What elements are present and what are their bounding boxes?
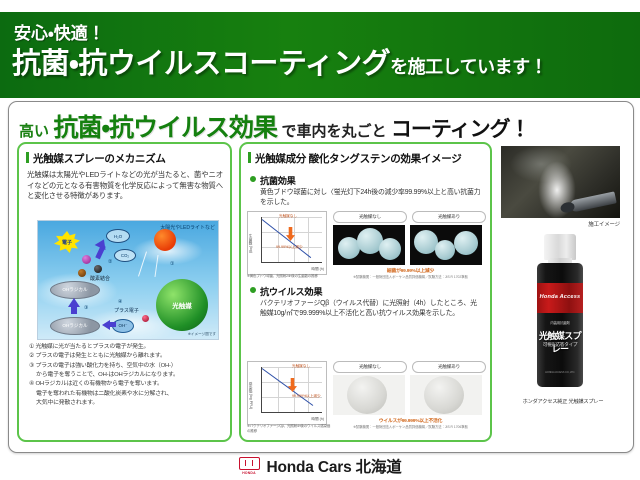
antiviral-body: バクテリオファージQβ（ウイルス代替）に光照射（4h）したところ、光触媒10g/… [260, 299, 482, 319]
headline-part-1: 高い [19, 120, 49, 141]
footer: HONDA Honda Cars 北海道 [0, 452, 640, 480]
banner-title-main: 抗菌・抗ウイルスコーティング [12, 48, 390, 80]
photo-label-with-catalyst: 光触媒あり [412, 211, 486, 223]
antibacterial-photos: 光触媒なし 光触媒あり [333, 211, 488, 275]
electron-dot [82, 255, 91, 264]
spray-nozzle-icon [569, 191, 616, 212]
effects-title: 光触媒成分 酸化タングステンの効果イメージ [248, 151, 490, 166]
headline-part-3: で車内を丸ごと [281, 120, 386, 141]
chart-series-line [262, 219, 311, 258]
panel-effects: 光触媒成分 酸化タングステンの効果イメージ 抗菌効果 黄色ブドウ球菌に対し〈蛍光… [239, 142, 492, 442]
diagram-step-2-marker: ② [108, 259, 112, 265]
headline: 高い 抗菌・抗ウイルス効果 で車内を丸ごと コーティング！ [9, 108, 633, 138]
bottle-cap [544, 234, 576, 260]
antibacterial-photo-fineprint: ※試験機関：一般財団法人ボーケン品質評価機構／試験方法：JIS R 1702準拠 [333, 275, 488, 279]
bottle-brand: Honda Access [537, 294, 583, 300]
diagram-step-3-marker: ③ [84, 305, 88, 311]
chart-gridline [308, 367, 309, 412]
antiviral-chart-caption: ※バクテリオファージQβ、光照射4h後のウイルス感染価の推移 [247, 424, 333, 434]
oh-radical-cloud-top: OHラジカル [50, 281, 100, 299]
mechanism-title: 光触媒スプレーのメカニズム [26, 151, 230, 166]
mechanism-step: 大気中に発散されます。 [29, 399, 222, 408]
photocatalysis-diagram: 太陽光やLEDライトなど ① 電子 H₂O CO₂ 酸素結合 ② [37, 220, 219, 340]
banner-title-suffix: を施工しています！ [390, 57, 547, 77]
mechanism-body: 光触媒は太陽光やLEDライトなどの光が当たると、菌やニオイなどの元となる有害物質… [27, 170, 223, 202]
electron-dot [94, 265, 102, 273]
antibacterial-heading: 抗菌効果 [250, 173, 490, 187]
antibacterial-body: 黄色ブドウ球菌に対し〈蛍光灯下24h後の減少率99.99%以上と高い抗菌力を示し… [260, 188, 482, 208]
panels-row: 光触媒スプレーのメカニズム 光触媒は太陽光やLEDライトなどの光が当たると、菌や… [9, 142, 633, 448]
chart-note-top: 光触媒なし [279, 214, 297, 219]
light-ray-icon [154, 255, 158, 277]
chart-note-drop: 99.99%以上減少 [276, 245, 303, 250]
photo-pair [333, 225, 488, 265]
plaque-dish-no-catalyst [333, 375, 405, 415]
colony [435, 240, 455, 260]
headline-part-2: 抗菌・抗ウイルス効果 [53, 108, 277, 144]
sun-orb-icon [154, 229, 176, 251]
light-ray-icon [138, 251, 147, 276]
product-column: 施工イメージ Honda Access 内装用抗菌剤 光触媒スプレー 可視光応答… [498, 142, 628, 442]
dealer-name: Honda Cars 北海道 [267, 455, 402, 477]
honda-h-mark [239, 457, 260, 470]
antiviral-photo-caption: ウイルスが99.999%以上不活化 [333, 417, 488, 424]
oh-radical-cloud-bottom: OHラジカル [50, 317, 100, 335]
colony [424, 376, 464, 414]
mechanism-step: から電子を奪うことで、OH-はOHラジカルになります。 [29, 371, 222, 380]
photo-label-no-catalyst: 光触媒なし [333, 211, 407, 223]
petri-dish-no-catalyst [333, 225, 405, 265]
product-caption: ホンダアクセス純正 光触媒スプレー [498, 398, 628, 405]
antiviral-photos: 光触媒なし 光触媒あり ウイルスが99.999%以上不活化 [333, 361, 488, 425]
chart-x-label: 時間 (h) [311, 417, 324, 422]
mechanism-step: ② プラスの電子は発生とともに光触媒から離れます。 [29, 352, 222, 361]
mechanism-step: ④ OHラジカルは近くの有機物から電子を奪います。 [29, 380, 222, 389]
bottle-product-type: 可視光応答タイプ [537, 342, 583, 348]
diagram-oxygen-label: 酸素結合 [90, 275, 110, 282]
arrow-up-icon [68, 298, 80, 307]
antibacterial-chart: 光触媒なし 99.99%以上減少 生菌数 (log) 時間 (h) [247, 211, 327, 275]
chart-y-label: 感染価 (log PFU) [249, 382, 254, 409]
panel-mechanism: 光触媒スプレーのメカニズム 光触媒は太陽光やLEDライトなどの光が当たると、菌や… [17, 142, 232, 442]
advertisement-page: 安心・快適！ 抗菌・抗ウイルスコーティングを施工しています！ 高い 抗菌・抗ウイ… [0, 0, 640, 480]
main-content-card: 高い 抗菌・抗ウイルス効果 で車内を丸ごと コーティング！ 光触媒スプレーのメカ… [8, 101, 634, 453]
antiviral-heading: 抗ウイルス効果 [250, 284, 490, 298]
co2-bubble: CO₂ [114, 249, 136, 262]
honda-wordmark: HONDA [239, 471, 260, 475]
diagram-step-1-marker: ① [170, 261, 174, 267]
antiviral-figures: 光触媒なし 99.999%以上減少 感染価 (log PFU) 時間 (h) ※… [247, 361, 490, 433]
h2o-bubble: H₂O [106, 229, 130, 243]
diagram-footnote: ※イメージ図です [188, 332, 216, 337]
bottle-subtitle: 内装用抗菌剤 [537, 320, 583, 325]
plus-electron-label: プラス電子 [114, 307, 139, 314]
photo-labels: 光触媒なし 光触媒あり [333, 361, 488, 373]
photocatalyst-sphere: 光触媒 [156, 279, 208, 331]
electron-burst-icon: 電子 [54, 231, 80, 253]
chart-gridline [294, 217, 295, 262]
chart-gridline [278, 217, 279, 262]
chart-down-arrow-icon [288, 378, 297, 392]
bottle-body: Honda Access 内装用抗菌剤 光触媒スプレー 可視光応答タイプ HON… [537, 263, 583, 387]
colony [454, 231, 478, 255]
chart-note-top: 光触媒なし [292, 364, 310, 369]
photo-label-no-catalyst: 光触媒なし [333, 361, 407, 373]
electron-dot [78, 269, 86, 277]
spray-application-photo [501, 146, 620, 218]
petri-dish-with-catalyst [410, 225, 482, 265]
chart-plot-area: 光触媒なし 99.999%以上減少 [261, 367, 322, 413]
mechanism-steps-list: ① 光触媒に光が当たるとプラスの電子が発生。 ② プラスの電子は発生とともに光触… [29, 343, 222, 409]
mist-photo-caption: 施工イメージ [501, 220, 620, 228]
headline-part-4: コーティング！ [391, 113, 530, 143]
antiviral-photo-fineprint: ※試験機関：一般財団法人ボーケン品質評価機構／試験方法：JIS R 1706準拠 [333, 425, 488, 429]
chart-plot-area: 光触媒なし 99.99%以上減少 [261, 217, 322, 263]
antibacterial-chart-caption: ※黄色ブドウ球菌、光照射24h後の生菌数の推移 [247, 274, 333, 279]
chart-note-drop: 99.999%以上減少 [292, 394, 321, 399]
electron-label: 電子 [62, 239, 72, 246]
diagram-step-4-marker: ④ [118, 299, 122, 305]
honda-logo-icon: HONDA [239, 457, 260, 475]
antibacterial-photo-caption: 細菌が99.99%以上減少 [333, 267, 488, 274]
photo-label-with-catalyst: 光触媒あり [412, 361, 486, 373]
product-bottle: Honda Access 内装用抗菌剤 光触媒スプレー 可視光応答タイプ HON… [532, 234, 588, 394]
photocatalyst-label: 光触媒 [172, 300, 192, 310]
banner-title: 抗菌・抗ウイルスコーティングを施工しています！ [12, 40, 547, 82]
top-banner: 安心・快適！ 抗菌・抗ウイルスコーティングを施工しています！ [0, 12, 640, 98]
antibacterial-figures: 光触媒なし 99.99%以上減少 生菌数 (log) 時間 (h) ※黄色ブドウ… [247, 211, 490, 283]
mechanism-step: ③ プラスの電子は強い酸化力を持ち、空気中の水（OH-） [29, 362, 222, 371]
colony [379, 238, 401, 260]
chart-y-label: 生菌数 (log) [249, 234, 254, 253]
antiviral-chart: 光触媒なし 99.999%以上減少 感染価 (log PFU) 時間 (h) [247, 361, 327, 425]
plus-electron-dot [142, 315, 149, 322]
chart-series-line [262, 368, 314, 406]
photo-labels: 光触媒なし 光触媒あり [333, 211, 488, 223]
colony [347, 376, 387, 414]
mechanism-step: 電子を奪われた有機物は二酸化炭素や水に分解され、 [29, 390, 222, 399]
arrow-stem-icon [108, 322, 116, 327]
bottle-fineprint: HONDA ACCESS CO.,LTD. [537, 371, 583, 374]
plaque-dish-with-catalyst [410, 375, 482, 415]
chart-x-label: 時間 (h) [311, 267, 324, 272]
chart-gridline [278, 367, 279, 412]
photo-pair [333, 375, 488, 415]
mechanism-step: ① 光触媒に光が当たるとプラスの電子が発生。 [29, 343, 222, 352]
